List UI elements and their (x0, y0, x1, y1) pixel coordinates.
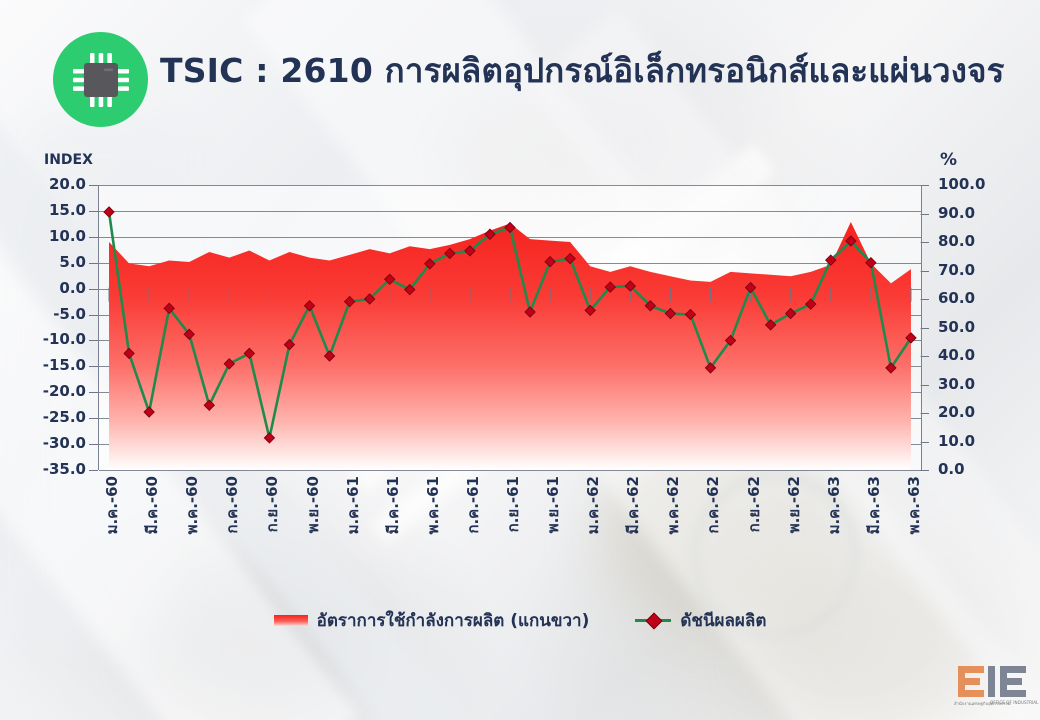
y-tick-label-right: 60.0 (938, 289, 1018, 307)
x-tick-label: ก.ค.-62 (701, 476, 725, 534)
y-tick-mark-left (89, 289, 98, 290)
x-tick-label: พ.ย.-62 (782, 476, 806, 533)
y-tick-label-right: 0.0 (938, 460, 1018, 478)
y-tick-mark-left (89, 366, 98, 367)
page-title: TSIC : 2610 การผลิตอุปกรณ์อิเล็กทรอนิกส์… (160, 44, 1020, 97)
y-tick-label-left: 10.0 (12, 227, 86, 245)
y-tick-mark-left (89, 315, 98, 316)
y-tick-mark-left (89, 263, 98, 264)
y-tick-mark-left (89, 237, 98, 238)
y-tick-label-left: -20.0 (12, 382, 86, 400)
y-tick-label-right: 20.0 (938, 403, 1018, 421)
x-tick-label: พ.ย.-60 (301, 476, 325, 533)
y-tick-label-left: -10.0 (12, 330, 86, 348)
y-tick-label-left: -30.0 (12, 434, 86, 452)
y-tick-label-left: -5.0 (12, 305, 86, 323)
y-tick-label-right: 30.0 (938, 375, 1018, 393)
x-tick-label: มี.ค.-63 (862, 476, 886, 534)
chart-container: INDEX % 20.015.010.05.00.0-5.0-10.0-15.0… (0, 140, 1040, 560)
legend-label-index: ดัชนีผลผลิต (680, 607, 766, 634)
x-tick-label: พ.ค.-62 (661, 476, 685, 534)
y-tick-label-right: 50.0 (938, 318, 1018, 336)
chart-canvas (99, 185, 921, 470)
y-tick-label-left: 15.0 (12, 201, 86, 219)
x-tick-label: มี.ค.-62 (621, 476, 645, 534)
x-tick-label: พ.ค.-63 (902, 476, 926, 534)
y-tick-label-left: -15.0 (12, 356, 86, 374)
oie-logo: สำนักงานเศรษฐกิจอุตสาหกรรม OFFICE OF IND… (948, 660, 1034, 716)
y-axis-label-right: % (940, 150, 957, 170)
y-tick-label-right: 40.0 (938, 346, 1018, 364)
x-tick-label: พ.ค.-61 (421, 476, 445, 534)
x-tick-label: ก.ย.-62 (742, 476, 766, 532)
y-tick-mark-left (89, 211, 98, 212)
y-tick-label-right: 80.0 (938, 232, 1018, 250)
area-series-capacity (109, 222, 911, 470)
y-tick-mark-left (89, 392, 98, 393)
y-tick-mark-left (89, 444, 98, 445)
y-tick-label-left: -35.0 (12, 460, 86, 478)
plot-area (98, 185, 922, 470)
x-tick-label: ม.ค.-62 (581, 476, 605, 534)
x-tick-label: พ.ย.-61 (541, 476, 565, 533)
y-axis-label-left: INDEX (44, 152, 93, 168)
legend-item-index[interactable]: ดัชนีผลผลิต (635, 607, 766, 634)
legend-item-capacity[interactable]: อัตราการใช้กำลังการผลิต (แกนขวา) (274, 607, 590, 634)
x-tick-label: ก.ย.-60 (260, 476, 284, 532)
x-tick-label: ม.ค.-60 (100, 476, 124, 534)
legend-area-swatch-icon (274, 615, 308, 626)
y-tick-label-left: -25.0 (12, 408, 86, 426)
data-point-marker[interactable] (104, 207, 114, 217)
x-tick-label: ม.ค.-63 (822, 476, 846, 534)
y-tick-mark-left (89, 418, 98, 419)
page-header: TSIC : 2610 การผลิตอุปกรณ์อิเล็กทรอนิกส์… (0, 0, 1040, 135)
y-tick-mark-left (89, 185, 98, 186)
x-tick-label: มี.ค.-61 (381, 476, 405, 534)
y-tick-label-left: 20.0 (12, 175, 86, 193)
y-tick-mark-left (89, 470, 98, 471)
y-tick-label-left: 5.0 (12, 253, 86, 271)
y-tick-label-left: 0.0 (12, 279, 86, 297)
y-tick-label-right: 90.0 (938, 204, 1018, 222)
legend-label-capacity: อัตราการใช้กำลังการผลิต (แกนขวา) (317, 607, 590, 634)
x-axis-ticks: ม.ค.-60มี.ค.-60พ.ค.-60ก.ค.-60ก.ย.-60พ.ย.… (98, 470, 920, 600)
x-tick-label: ม.ค.-61 (341, 476, 365, 534)
x-tick-label: ก.ค.-60 (220, 476, 244, 534)
x-tick-label: มี.ค.-60 (140, 476, 164, 534)
x-tick-label: ก.ย.-61 (501, 476, 525, 532)
y-tick-label-right: 100.0 (938, 175, 1018, 193)
oie-logo-text-en: OFFICE OF INDUSTRIAL ECONOMICS (990, 700, 1040, 705)
chart-legend: อัตราการใช้กำลังการผลิต (แกนขวา) ดัชนีผล… (0, 600, 1040, 640)
y-tick-mark-right (920, 470, 929, 471)
y-tick-mark-left (89, 340, 98, 341)
microchip-icon (53, 32, 148, 127)
y-tick-label-right: 10.0 (938, 432, 1018, 450)
y-tick-label-right: 70.0 (938, 261, 1018, 279)
x-tick-label: ก.ค.-61 (461, 476, 485, 534)
legend-line-marker-icon (635, 613, 671, 627)
x-tick-label: พ.ค.-60 (180, 476, 204, 534)
